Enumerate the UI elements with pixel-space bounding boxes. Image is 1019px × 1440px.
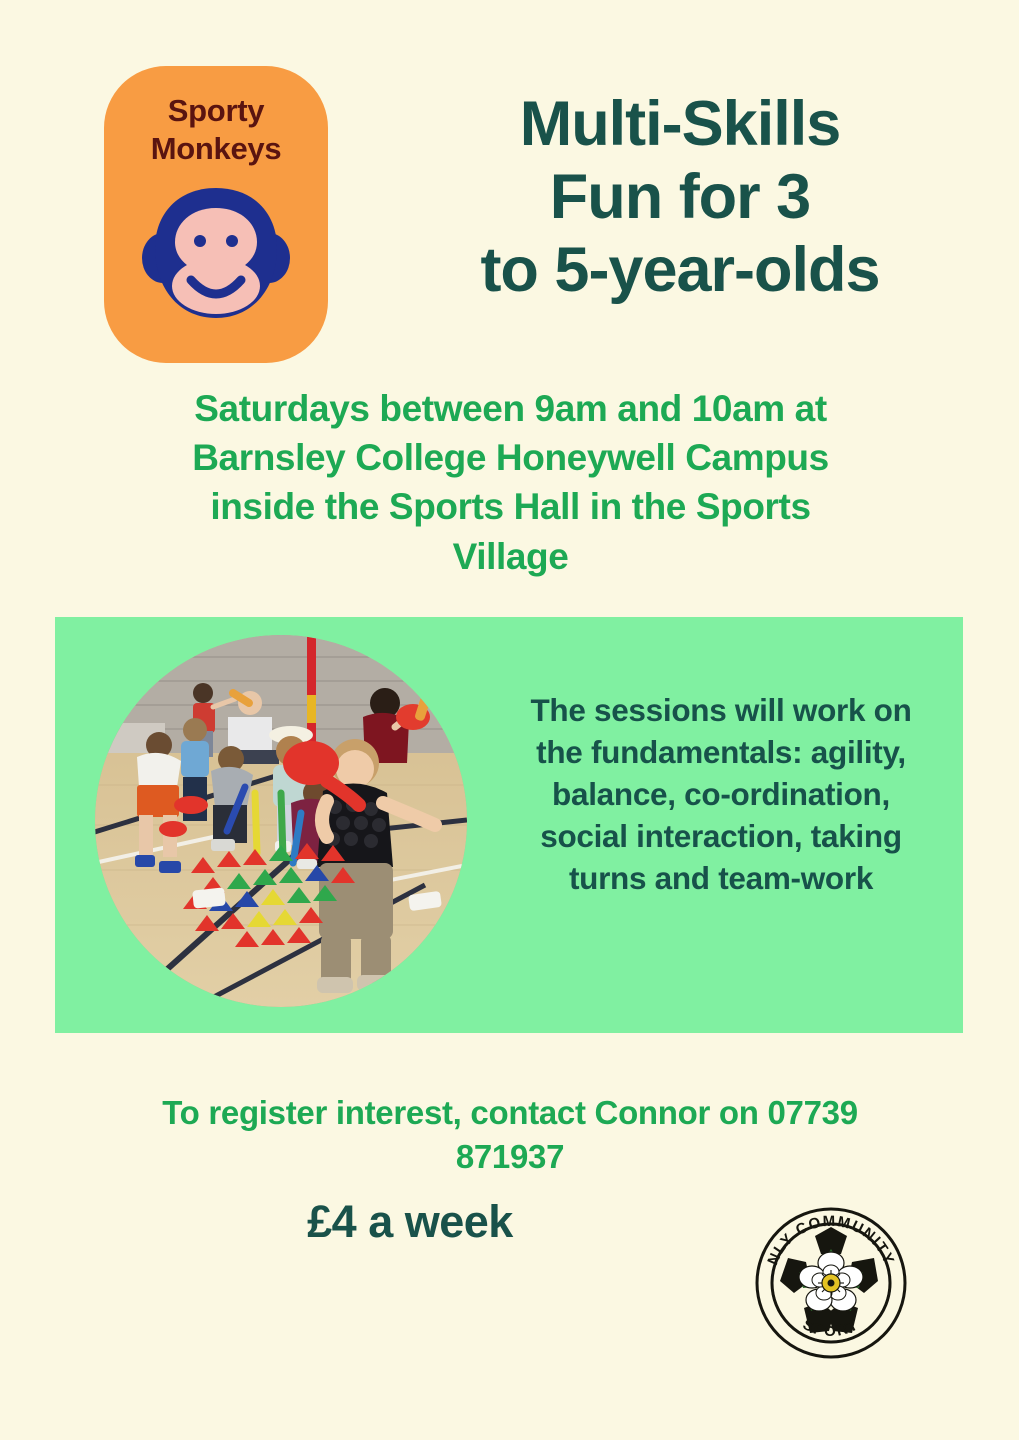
subtitle-line-4: Village	[88, 532, 933, 581]
description-line-4: social interaction, taking	[485, 816, 957, 858]
poster-root: Sporty Monkeys Multi-Skills	[0, 0, 1019, 1440]
description-line-5: turns and team-work	[485, 858, 957, 900]
page-title: Multi-Skills Fun for 3 to 5-year-olds	[380, 88, 980, 307]
price-label: £4 a week	[180, 1196, 640, 1248]
description-line-1: The sessions will work on	[485, 690, 957, 732]
session-photo	[95, 635, 467, 1007]
session-description: The sessions will work on the fundamenta…	[485, 690, 957, 899]
subtitle-line-3: inside the Sports Hall in the Sports	[88, 482, 933, 531]
subtitle-line-2: Barnsley College Honeywell Campus	[88, 433, 933, 482]
brand-name-line-1: Sporty	[168, 92, 264, 130]
contact-line-2: 871937	[80, 1135, 940, 1179]
contact-info: To register interest, contact Connor on …	[80, 1091, 940, 1179]
info-panel: The sessions will work on the fundamenta…	[55, 617, 963, 1033]
session-details: Saturdays between 9am and 10am at Barnsl…	[88, 384, 933, 581]
nly-community-sport-logo: NLY COMMUNITY SPORT	[752, 1204, 910, 1362]
monkey-face-icon	[141, 182, 291, 332]
brand-badge: Sporty Monkeys	[104, 66, 328, 363]
headline-line-2: Fun for 3	[380, 161, 980, 234]
description-line-2: the fundamentals: agility,	[485, 732, 957, 774]
headline-line-3: to 5-year-olds	[380, 234, 980, 307]
subtitle-line-1: Saturdays between 9am and 10am at	[88, 384, 933, 433]
description-line-3: balance, co-ordination,	[485, 774, 957, 816]
brand-name-line-2: Monkeys	[151, 130, 282, 168]
headline-line-1: Multi-Skills	[380, 88, 980, 161]
contact-line-1: To register interest, contact Connor on …	[80, 1091, 940, 1135]
